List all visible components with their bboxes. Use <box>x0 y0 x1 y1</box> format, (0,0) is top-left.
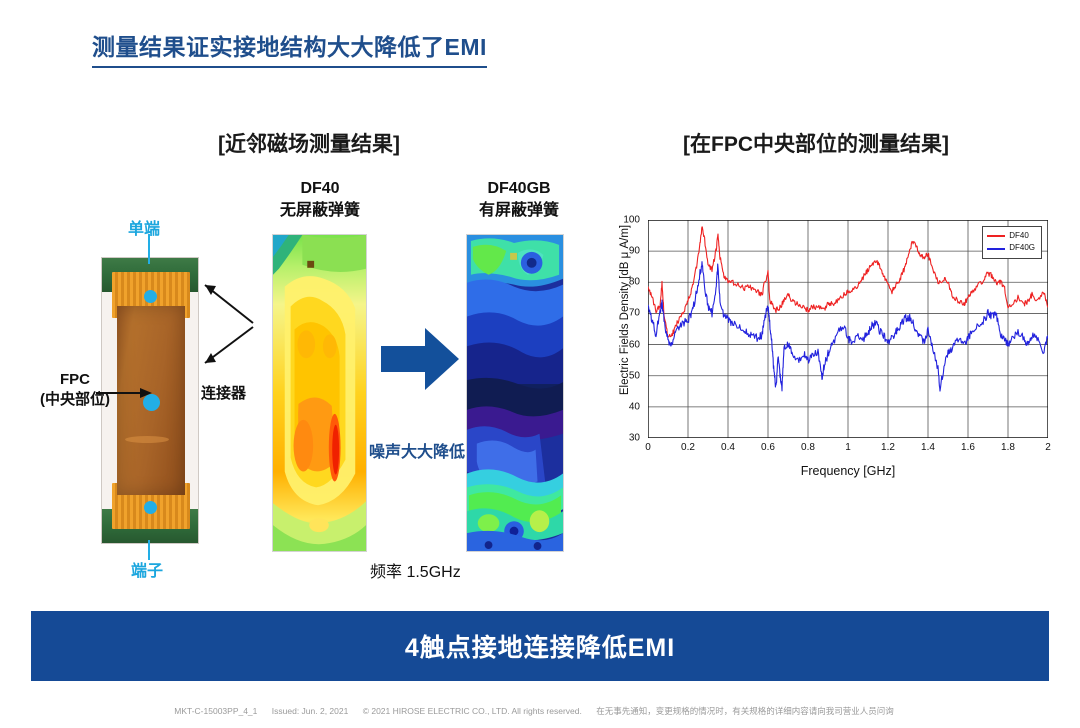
chart-x-tick: 0 <box>645 442 651 453</box>
chart-x-ticks: 00.20.40.60.811.21.41.61.82 <box>648 438 1048 462</box>
chart-legend-swatch <box>987 248 1005 250</box>
heatmap-df40gb-field <box>467 235 563 551</box>
chart-x-tick: 1.2 <box>881 442 895 453</box>
label-noise-reduction: 噪声大大降低 <box>369 438 465 462</box>
chart-x-tick: 0.2 <box>681 442 695 453</box>
label-fpc-center: FPC (中央部位) <box>40 370 110 411</box>
chart-x-axis-label: Frequency [GHz] <box>648 464 1048 478</box>
chart-x-tick: 1.8 <box>1001 442 1015 453</box>
slide-root: 测量结果证实接地结构大大降低了EMI [近邻磁场测量结果] [在FPC中央部位的… <box>0 0 1080 728</box>
heatmap-subtitle-df40gb: 有屏蔽弹簧 <box>452 200 586 222</box>
improvement-arrow-icon <box>381 328 459 390</box>
chart-y-tick: 30 <box>616 433 640 444</box>
chart-y-tick: 50 <box>616 370 640 381</box>
chart-plot-area: DF40DF40G <box>648 220 1048 438</box>
chart-y-tick: 80 <box>616 277 640 288</box>
emi-spectrum-chart: Electric Fields Density [dB μ A/m] 30405… <box>604 214 1054 484</box>
label-top-terminal: 单端 <box>128 215 160 239</box>
measure-point-bottom <box>144 501 157 514</box>
chart-legend-item: DF40 <box>987 230 1035 242</box>
chart-y-tick: 40 <box>616 401 640 412</box>
label-bottom-terminal: 端子 <box>131 557 163 581</box>
chart-x-tick: 0.6 <box>761 442 775 453</box>
footer-issued: Issued: Jun. 2, 2021 <box>272 706 349 716</box>
heatmap-name-df40: DF40 <box>255 178 385 200</box>
footer-copyright: © 2021 HIROSE ELECTRIC CO., LTD. All rig… <box>363 706 582 716</box>
connector-callout-arrows <box>195 275 265 385</box>
section-header-left: [近邻磁场测量结果] <box>218 128 400 158</box>
label-connector: 连接器 <box>201 382 246 403</box>
chart-legend-label: DF40G <box>1009 242 1035 254</box>
label-frequency-note: 频率 1.5GHz <box>370 558 461 582</box>
heatmap-name-df40gb: DF40GB <box>452 178 586 200</box>
footer-notice: 在无事先通知，变更规格的情况时，有关规格的详细内容请向我司营业人员问询 <box>596 706 894 716</box>
chart-y-tick: 60 <box>616 339 640 350</box>
chart-legend-swatch <box>987 235 1005 237</box>
footer-doc-id: MKT-C-15003PP_4_1 <box>174 706 257 716</box>
footer: MKT-C-15003PP_4_1 Issued: Jun. 2, 2021 ©… <box>0 705 1080 717</box>
heatmap-df40gb-shielded <box>466 234 564 552</box>
page-title: 测量结果证实接地结构大大降低了EMI <box>92 28 487 68</box>
label-fpc-line2: (中央部位) <box>40 390 110 410</box>
heatmap-caption-df40gb: DF40GB 有屏蔽弹簧 <box>452 178 586 221</box>
chart-y-tick: 90 <box>616 246 640 257</box>
chart-x-tick: 0.4 <box>721 442 735 453</box>
measure-point-top <box>144 290 157 303</box>
chart-legend: DF40DF40G <box>982 226 1042 259</box>
heatmap-df40-unshielded <box>272 234 367 552</box>
conclusion-banner-text: 4触点接地连接降低EMI <box>405 628 675 664</box>
chart-x-tick: 1 <box>845 442 851 453</box>
chart-x-tick: 2 <box>1045 442 1051 453</box>
chart-x-tick: 1.4 <box>921 442 935 453</box>
chart-x-tick: 0.8 <box>801 442 815 453</box>
section-header-right: [在FPC中央部位的测量结果] <box>683 128 949 158</box>
chart-y-tick: 100 <box>616 215 640 226</box>
chart-legend-label: DF40 <box>1009 230 1029 242</box>
chart-x-axis-label-wrap: Frequency [GHz] <box>648 464 1048 484</box>
chart-y-tick: 70 <box>616 308 640 319</box>
heatmap-subtitle-df40: 无屏蔽弹簧 <box>255 200 385 222</box>
label-fpc-line1: FPC <box>40 370 110 390</box>
chart-legend-item: DF40G <box>987 242 1035 254</box>
conclusion-banner: 4触点接地连接降低EMI <box>31 611 1049 681</box>
heatmap-df40-field <box>273 235 366 551</box>
heatmap-caption-df40: DF40 无屏蔽弹簧 <box>255 178 385 221</box>
chart-x-tick: 1.6 <box>961 442 975 453</box>
